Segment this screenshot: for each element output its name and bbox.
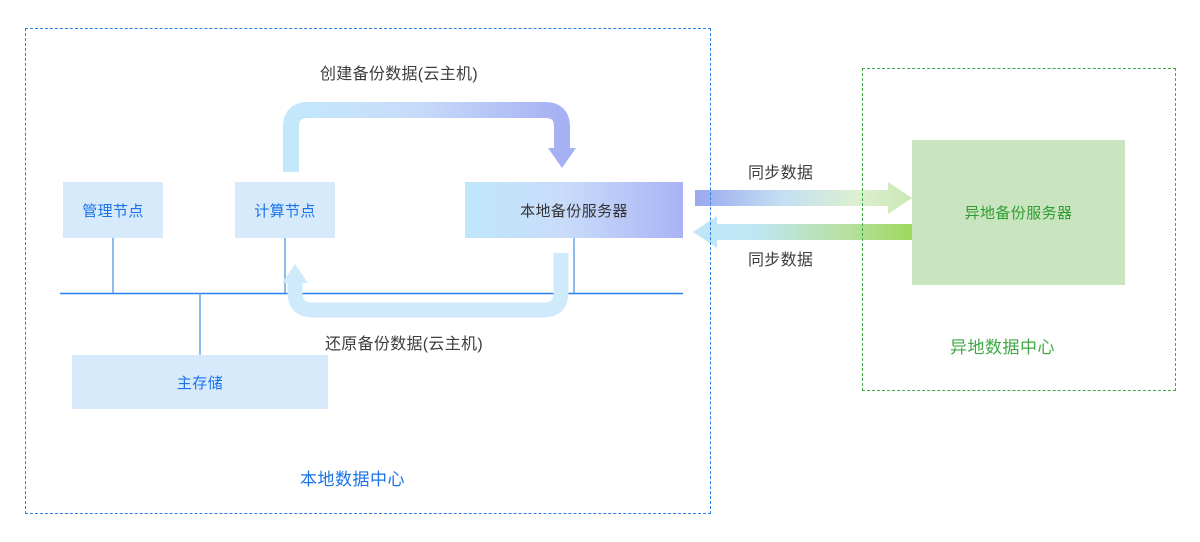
- primary-storage-label: 主存储: [177, 372, 223, 393]
- primary-storage-box[interactable]: 主存储: [72, 355, 328, 409]
- create-backup-label: 创建备份数据(云主机): [320, 60, 478, 84]
- local-backup-server-box[interactable]: 本地备份服务器: [465, 182, 683, 238]
- sync-data-inbound-label: 同步数据: [748, 246, 813, 270]
- local-backup-server-label: 本地备份服务器: [520, 200, 628, 221]
- management-node-label: 管理节点: [82, 200, 144, 221]
- architecture-diagram: 管理节点 计算节点 本地备份服务器 主存储 异地备份服务器 创建备份数据(云主机…: [0, 0, 1200, 542]
- compute-node-box[interactable]: 计算节点: [235, 182, 335, 238]
- management-node-box[interactable]: 管理节点: [63, 182, 163, 238]
- sync-data-outbound-label: 同步数据: [748, 159, 813, 183]
- remote-data-center-caption: 异地数据中心: [950, 333, 1055, 358]
- remote-backup-server-box[interactable]: 异地备份服务器: [912, 140, 1125, 285]
- remote-backup-server-label: 异地备份服务器: [965, 202, 1073, 223]
- local-data-center-caption: 本地数据中心: [300, 465, 405, 490]
- restore-backup-label: 还原备份数据(云主机): [325, 330, 483, 354]
- local-data-center-zone: [25, 28, 711, 514]
- compute-node-label: 计算节点: [254, 200, 316, 221]
